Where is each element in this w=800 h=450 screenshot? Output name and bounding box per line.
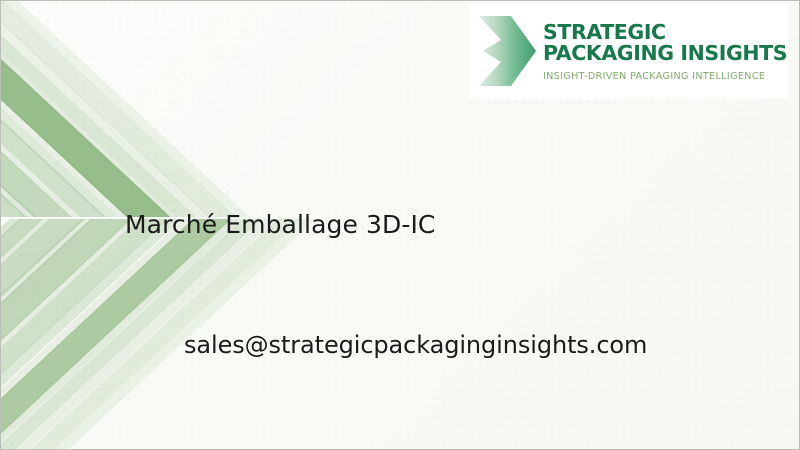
company-logo: STRATEGIC PACKAGING INSIGHTS INSIGHT-DRI…	[469, 3, 789, 99]
contact-email[interactable]: sales@strategicpackaginginsights.com	[184, 331, 647, 359]
logo-tagline: INSIGHT-DRIVEN PACKAGING INTELLIGENCE	[543, 71, 787, 82]
presentation-slide: STRATEGIC PACKAGING INSIGHTS INSIGHT-DRI…	[0, 0, 800, 450]
logo-name-line2: PACKAGING INSIGHTS	[543, 43, 787, 64]
logo-name-line1: STRATEGIC	[543, 22, 787, 43]
chevron-upper-arm	[1, 1, 331, 217]
page-title: Marché Emballage 3D-IC	[125, 210, 436, 239]
logo-wordmark: STRATEGIC PACKAGING INSIGHTS INSIGHT-DRI…	[543, 20, 787, 82]
chevron-right-icon	[475, 14, 537, 88]
